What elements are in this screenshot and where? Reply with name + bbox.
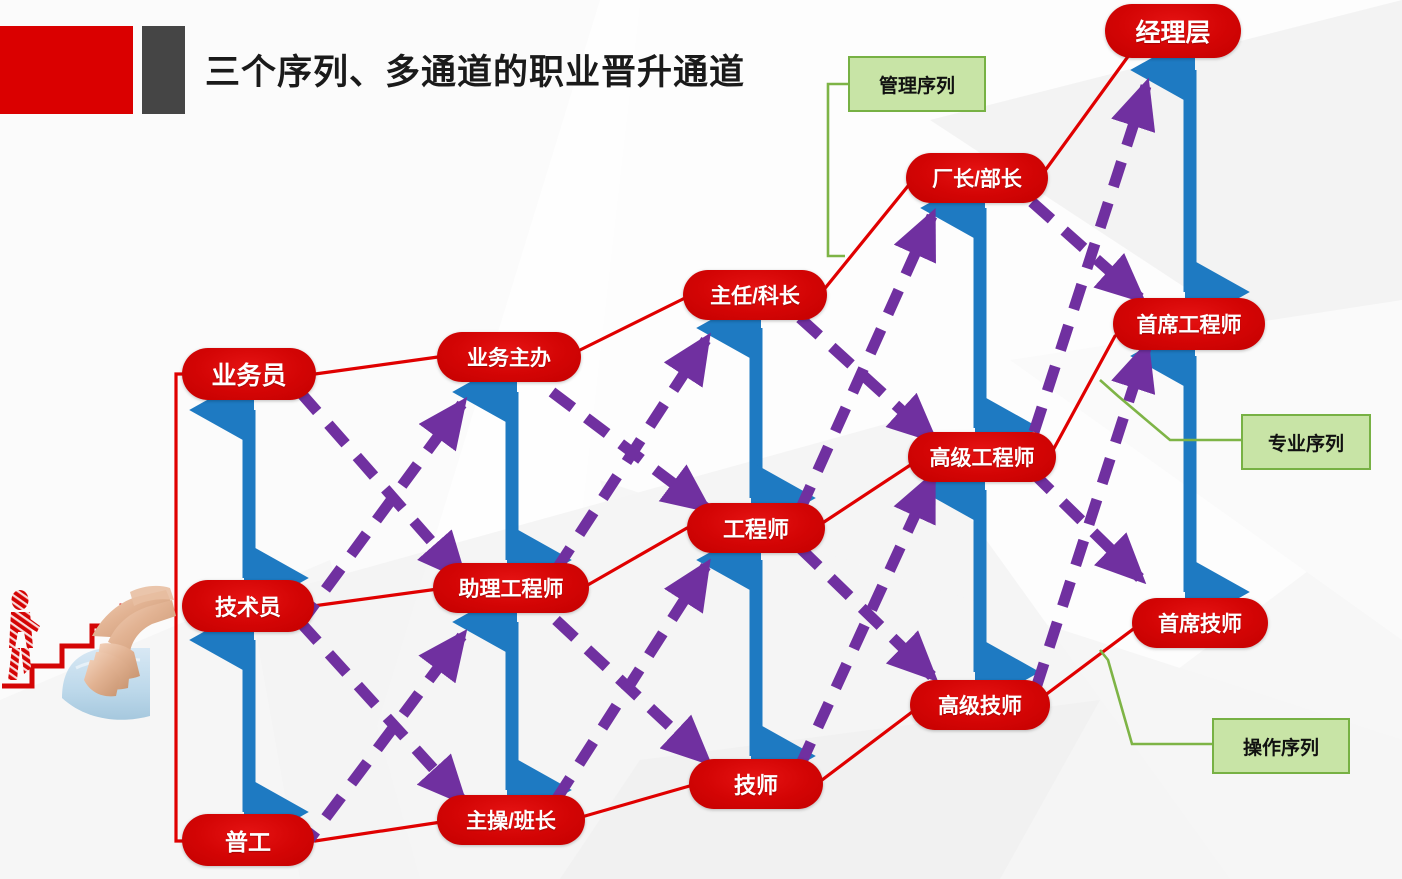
- slide-canvas: 三个序列、多通道的职业晋升通道: [0, 0, 1402, 879]
- node-label: 经理层: [1135, 13, 1210, 49]
- node-principal-technician[interactable]: 首席技师: [1132, 598, 1268, 648]
- node-business-supervisor[interactable]: 业务主办: [437, 332, 581, 382]
- node-salesperson[interactable]: 业务员: [182, 348, 316, 400]
- node-label: 技师: [734, 768, 778, 800]
- node-label: 普工: [225, 823, 271, 857]
- node-plant-manager[interactable]: 厂长/部长: [906, 153, 1048, 203]
- node-label: 高级技师: [938, 690, 1022, 720]
- node-senior-technician[interactable]: 高级技师: [910, 680, 1050, 730]
- legend-management-sequence[interactable]: 管理序列: [848, 56, 986, 112]
- legend-label: 管理序列: [879, 71, 955, 98]
- node-assistant-engineer[interactable]: 助理工程师: [433, 563, 589, 613]
- legend-operation-sequence[interactable]: 操作序列: [1212, 718, 1350, 774]
- node-chief-engineer[interactable]: 首席工程师: [1113, 298, 1265, 350]
- node-label: 首席技师: [1158, 608, 1242, 638]
- node-label: 技术员: [215, 590, 281, 622]
- node-label: 主任/科长: [710, 280, 800, 310]
- node-technician[interactable]: 技师: [689, 759, 823, 809]
- node-senior-engineer[interactable]: 高级工程师: [908, 432, 1056, 482]
- node-label: 高级工程师: [930, 442, 1035, 472]
- node-general-worker[interactable]: 普工: [182, 814, 314, 866]
- node-label: 主操/班长: [466, 805, 556, 835]
- node-label: 工程师: [723, 512, 789, 544]
- legend-label: 操作序列: [1243, 733, 1319, 760]
- node-label: 助理工程师: [459, 573, 564, 603]
- hand-drawing-illustration: [0, 548, 185, 778]
- node-label: 业务员: [211, 356, 286, 392]
- node-manager-level[interactable]: 经理层: [1105, 4, 1241, 58]
- node-label: 厂长/部长: [932, 163, 1022, 193]
- node-label: 首席工程师: [1137, 309, 1242, 339]
- node-engineer[interactable]: 工程师: [687, 503, 825, 553]
- node-technician-clerk[interactable]: 技术员: [182, 580, 314, 632]
- node-director[interactable]: 主任/科长: [683, 270, 827, 320]
- node-chief-operator[interactable]: 主操/班长: [437, 795, 585, 845]
- legend-label: 专业序列: [1268, 429, 1344, 456]
- node-label: 业务主办: [467, 342, 551, 372]
- connector-layer: [0, 0, 1402, 879]
- legend-professional-sequence[interactable]: 专业序列: [1241, 414, 1371, 470]
